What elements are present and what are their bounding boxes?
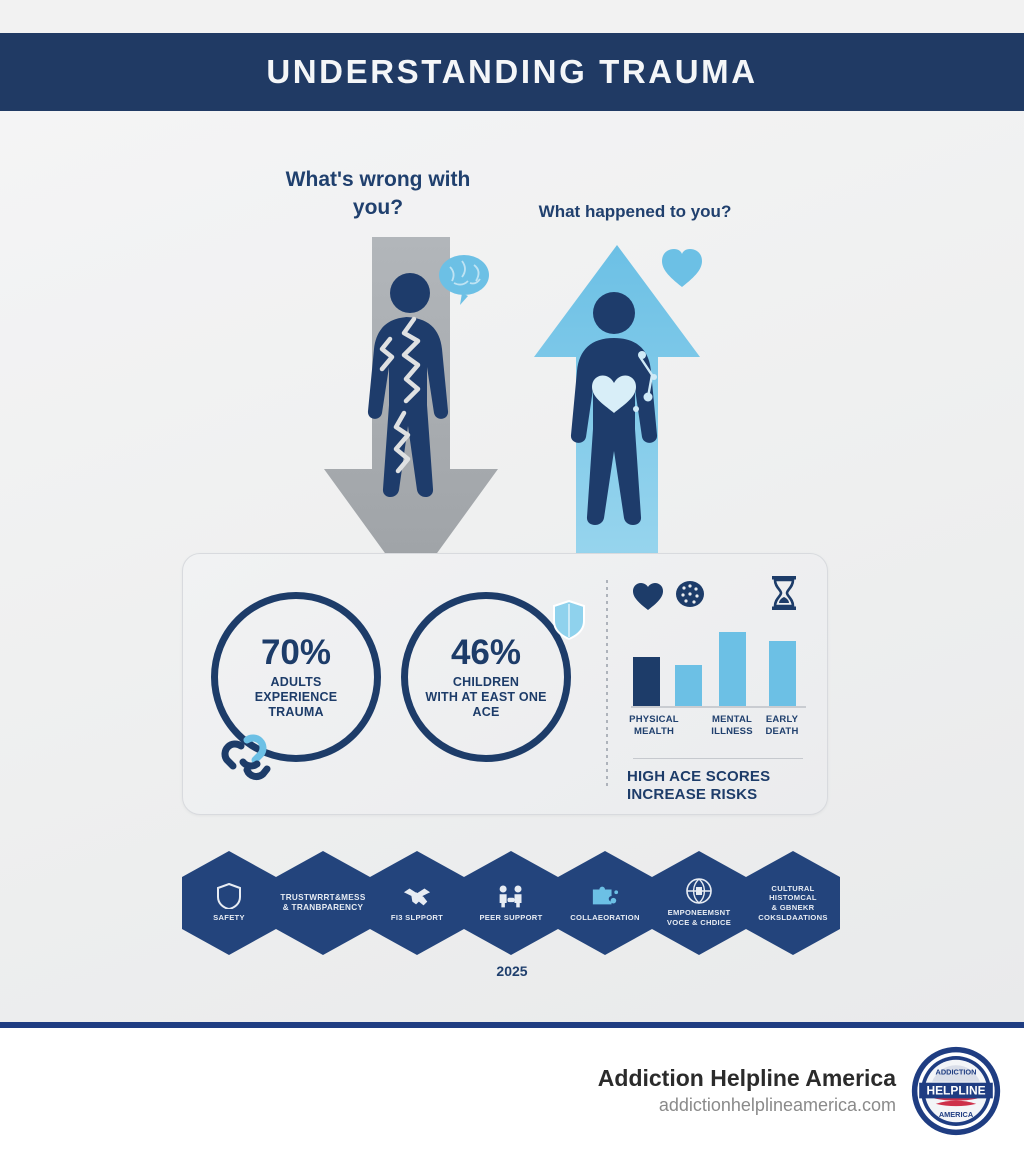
- footer-text: Addiction Helpline America addictionhelp…: [598, 1065, 896, 1117]
- bar-physical-health: [633, 657, 660, 706]
- principle-label: COLLAEORATION: [570, 913, 640, 923]
- bar-labels-row: PHYSICAL MEALTH MENTAL ILLNESS EARLY DEA…: [631, 714, 806, 750]
- bar-label-mental-illness: MENTAL ILLNESS: [703, 714, 761, 738]
- principle-label: PEER SUPPORT: [479, 913, 542, 923]
- puzzle-icon: [591, 883, 619, 909]
- bar-second: [675, 665, 702, 706]
- logo-helpline-text: HELPLINE: [926, 1084, 985, 1098]
- logo-addiction-text: ADDICTION: [936, 1067, 977, 1076]
- ace-risk-barchart: PHYSICAL MEALTH MENTAL ILLNESS EARLY DEA…: [631, 576, 806, 796]
- poster-body: What's wrong with you? What happened to …: [0, 111, 1024, 1024]
- donut-label: CHILDREN WITH AT EAST ONE ACE: [425, 675, 546, 720]
- hero-arrows-section: What's wrong with you? What happened to …: [0, 111, 1024, 531]
- top-margin: [0, 0, 1024, 33]
- principle-hex-trustworthiness[interactable]: TRUSTWRRT&MESS & TRANBPARENCY: [276, 851, 370, 955]
- principle-label: CULTURAL HISTOMCAL & GBNEKR COKSLDAATION…: [758, 884, 828, 923]
- broken-chain-icon: [217, 730, 279, 782]
- statistics-panel: 70% ADULTS EXPERIENCE TRAUMA 46%: [182, 553, 828, 815]
- footer: Addiction Helpline America addictionhelp…: [0, 1028, 1024, 1154]
- principle-hex-peer-support[interactable]: PEER SUPPORT: [464, 851, 558, 955]
- panel-divider: [606, 580, 608, 788]
- bar-label-early-death: EARLY DEATH: [757, 714, 807, 738]
- handshake-icon: [403, 883, 431, 909]
- heart-icon: [662, 249, 702, 287]
- year-label: 2025: [0, 963, 1024, 979]
- hourglass-icon: [769, 576, 799, 610]
- principle-label: EMPONEEMSNT VOCE & CHDICE: [667, 908, 731, 927]
- bar-label-physical-health: PHYSICAL MEALTH: [623, 714, 685, 738]
- question-new-label: What happened to you?: [500, 201, 770, 223]
- brain-icon: [675, 578, 705, 612]
- bar-icons-row: [631, 576, 806, 618]
- question-old-label: What's wrong with you?: [278, 166, 478, 221]
- bar-early-death: [769, 641, 796, 706]
- globe-fist-icon: [685, 878, 713, 904]
- principles-row: SAFETY TRUSTWRRT&MESS & TRANBPARENCY FI3…: [182, 851, 842, 955]
- shield-icon: [553, 600, 585, 640]
- principle-label: TRUSTWRRT&MESS & TRANBPARENCY: [280, 893, 365, 914]
- bar-baseline: [631, 706, 806, 708]
- infographic-poster: UNDERSTANDING TRAUMA What's wrong with y…: [0, 0, 1024, 1154]
- bar-mental-illness: [719, 632, 746, 706]
- page-title: UNDERSTANDING TRAUMA: [266, 53, 757, 91]
- donut-label: ADULTS EXPERIENCE TRAUMA: [255, 675, 338, 720]
- brand-url[interactable]: addictionhelplineamerica.com: [598, 1094, 896, 1117]
- principle-hex-peer-support-alt[interactable]: FI3 SLPPORT: [370, 851, 464, 955]
- logo-america-text: AMERICA: [939, 1110, 974, 1119]
- donut-content: 46% CHILDREN WITH AT EAST ONE ACE: [401, 592, 571, 762]
- stat-donut-adults: 70% ADULTS EXPERIENCE TRAUMA: [211, 592, 381, 762]
- principle-hex-collaboration[interactable]: COLLAEORATION: [558, 851, 652, 955]
- donut-percent: 46%: [451, 635, 521, 670]
- chart-rule: [633, 758, 803, 759]
- brand-logo-icon: HELPLINE ADDICTION AMERICA: [910, 1045, 1002, 1137]
- principle-hex-cultural[interactable]: CULTURAL HISTOMCAL & GBNEKR COKSLDAATION…: [746, 851, 840, 955]
- principle-label: FI3 SLPPORT: [391, 913, 443, 923]
- stat-donut-children: 46% CHILDREN WITH AT EAST ONE ACE: [401, 592, 571, 762]
- risk-caption: HIGH ACE SCORES INCREASE RISKS: [627, 768, 812, 805]
- shield-icon: [215, 883, 243, 909]
- brand-name: Addiction Helpline America: [598, 1065, 896, 1093]
- bars-group: [631, 620, 806, 706]
- donut-percent: 70%: [261, 635, 331, 670]
- heart-icon: [633, 580, 663, 614]
- people-icon: [497, 883, 525, 909]
- principle-hex-safety[interactable]: SAFETY: [182, 851, 276, 955]
- principle-hex-empowerment[interactable]: EMPONEEMSNT VOCE & CHDICE: [652, 851, 746, 955]
- header-band: UNDERSTANDING TRAUMA: [0, 33, 1024, 111]
- principle-label: SAFETY: [213, 913, 245, 923]
